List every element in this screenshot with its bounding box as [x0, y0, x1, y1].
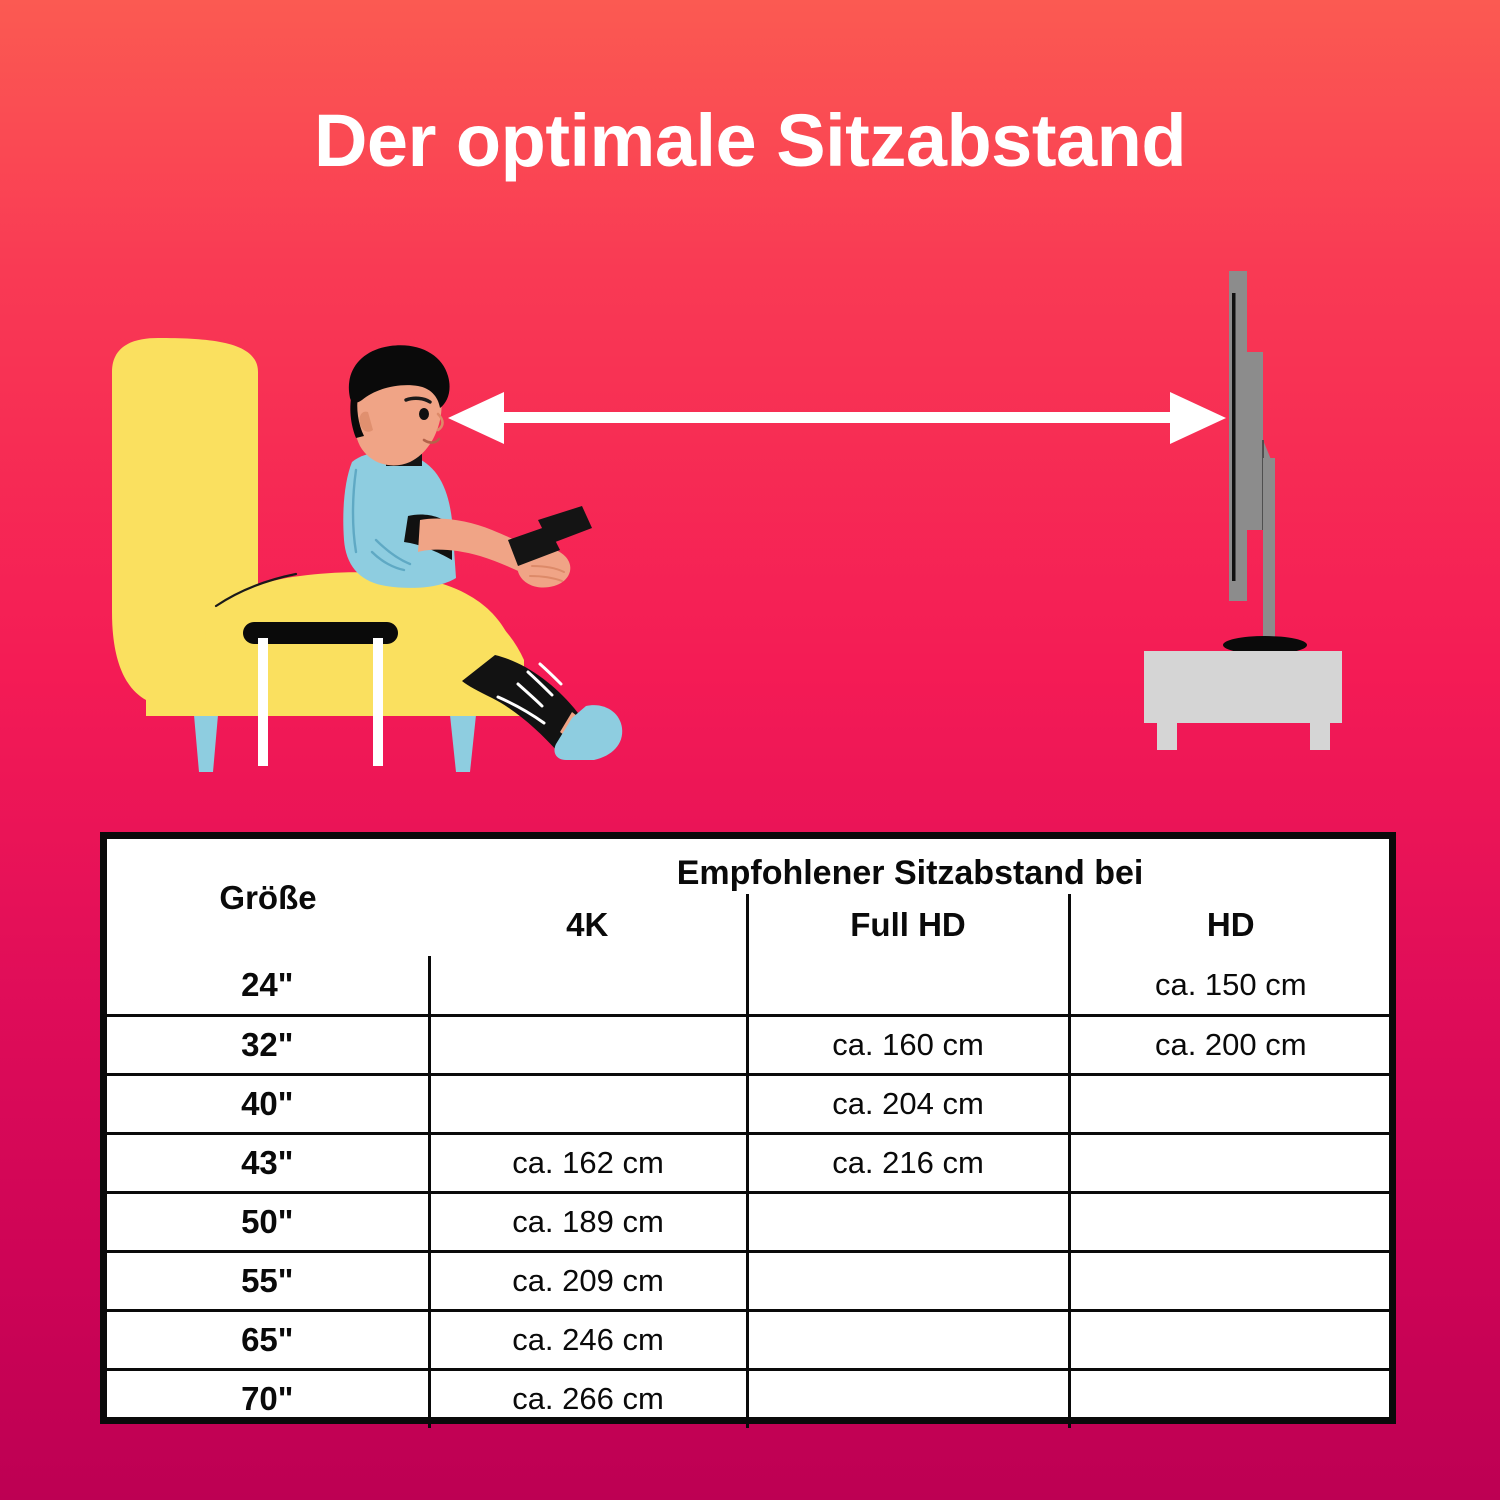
arrow-shaft — [492, 412, 1182, 423]
cabinet-leg-left — [1157, 723, 1177, 750]
cell-4k — [429, 1074, 747, 1133]
cell-4k — [429, 956, 747, 1015]
cell-full-hd: ca. 204 cm — [747, 1074, 1069, 1133]
header-group: Empfohlener Sitzabstand bei — [429, 839, 1391, 894]
table-row: 32" ca. 160 cm ca. 200 cm — [107, 1015, 1391, 1074]
table-body: 24" ca. 150 cm 32" ca. 160 cm ca. 200 cm… — [107, 956, 1391, 1428]
cell-hd — [1069, 1251, 1391, 1310]
tv-screen-edge — [1232, 293, 1236, 581]
table-row: 24" ca. 150 cm — [107, 956, 1391, 1015]
yellow-armchair — [112, 338, 524, 772]
cell-size: 32" — [107, 1015, 429, 1074]
cell-size: 50" — [107, 1192, 429, 1251]
armchair-leg-back — [194, 715, 218, 772]
cell-full-hd — [747, 1369, 1069, 1428]
table-row: 50" ca. 189 cm — [107, 1192, 1391, 1251]
header-full-hd: Full HD — [747, 894, 1069, 956]
cell-4k: ca. 162 cm — [429, 1133, 747, 1192]
cell-size: 40" — [107, 1074, 429, 1133]
cell-4k: ca. 266 cm — [429, 1369, 747, 1428]
illustration-scene — [0, 0, 1500, 840]
cell-4k: ca. 189 cm — [429, 1192, 747, 1251]
cell-hd: ca. 150 cm — [1069, 956, 1391, 1015]
cell-4k: ca. 209 cm — [429, 1251, 747, 1310]
table-row: 40" ca. 204 cm — [107, 1074, 1391, 1133]
cell-hd — [1069, 1192, 1391, 1251]
tv-rear-housing — [1247, 352, 1263, 530]
cabinet-leg-right — [1310, 723, 1330, 750]
header-size: Größe — [107, 839, 429, 956]
cell-full-hd — [747, 1310, 1069, 1369]
armchair-leg-front — [450, 715, 476, 772]
cell-size: 65" — [107, 1310, 429, 1369]
arrow-head-right — [1170, 392, 1226, 444]
tv-stand-neck — [1263, 458, 1275, 644]
cell-hd: ca. 200 cm — [1069, 1015, 1391, 1074]
eye — [419, 408, 429, 420]
cabinet-body — [1144, 651, 1342, 723]
table-row: 43" ca. 162 cm ca. 216 cm — [107, 1133, 1391, 1192]
infographic-page: Der optimale Sitzabstand — [0, 0, 1500, 1500]
footstool-leg-left — [258, 638, 268, 766]
header-4k: 4K — [429, 894, 747, 956]
tv-panel — [1229, 271, 1247, 601]
seating-distance-table: Größe Empfohlener Sitzabstand bei 4K Ful… — [100, 832, 1396, 1424]
cell-4k: ca. 246 cm — [429, 1310, 747, 1369]
header-hd: HD — [1069, 894, 1391, 956]
cell-full-hd — [747, 1251, 1069, 1310]
table-header-group-row: Größe Empfohlener Sitzabstand bei — [107, 839, 1391, 894]
table-row: 65" ca. 246 cm — [107, 1310, 1391, 1369]
distance-double-arrow — [448, 392, 1226, 444]
cell-hd — [1069, 1369, 1391, 1428]
table-row: 70" ca. 266 cm — [107, 1369, 1391, 1428]
cell-full-hd — [747, 1192, 1069, 1251]
cell-4k — [429, 1015, 747, 1074]
footstool-leg-right — [373, 638, 383, 766]
cell-hd — [1069, 1074, 1391, 1133]
flat-screen-tv-side-view — [1223, 271, 1307, 654]
cell-size: 43" — [107, 1133, 429, 1192]
cell-size: 24" — [107, 956, 429, 1015]
arrow-head-left — [448, 392, 504, 444]
cell-hd — [1069, 1133, 1391, 1192]
cell-full-hd — [747, 956, 1069, 1015]
cell-size: 70" — [107, 1369, 429, 1428]
table-row: 55" ca. 209 cm — [107, 1251, 1391, 1310]
cell-full-hd: ca. 216 cm — [747, 1133, 1069, 1192]
cell-hd — [1069, 1310, 1391, 1369]
cell-full-hd: ca. 160 cm — [747, 1015, 1069, 1074]
tv-cabinet — [1144, 651, 1342, 750]
cell-size: 55" — [107, 1251, 429, 1310]
